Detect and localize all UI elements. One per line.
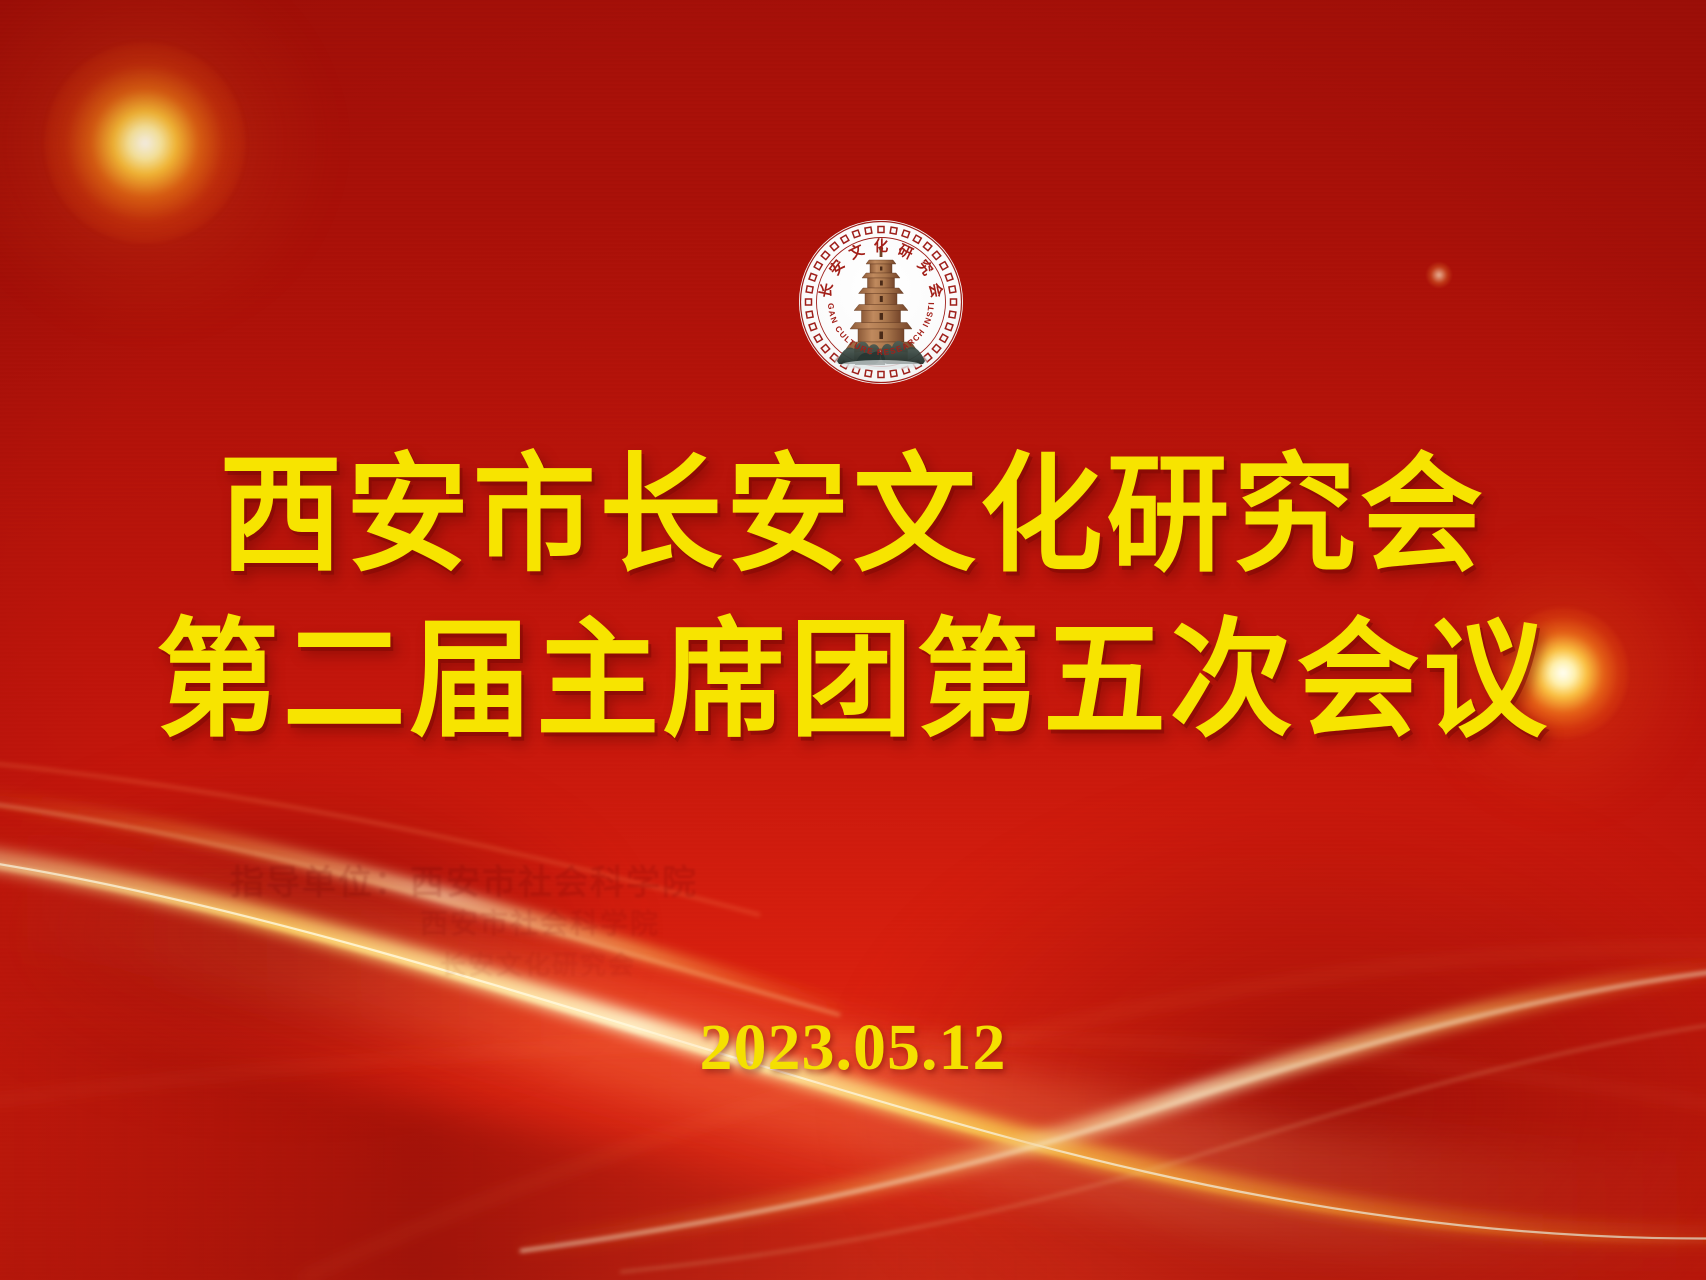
- background-scanline-texture: [0, 0, 1706, 1280]
- conference-backdrop-slide: 指导单位：西安市社会科学院 西安市社会科学院 长安文化研究会: [0, 0, 1706, 1280]
- institute-logo: 长安文化研究会 CHANGAN CULTURE RESEARCH INSTITU…: [797, 218, 965, 386]
- logo-ring-char: 化: [874, 237, 889, 255]
- institute-logo-svg: 长安文化研究会 CHANGAN CULTURE RESEARCH INSTITU…: [797, 218, 965, 386]
